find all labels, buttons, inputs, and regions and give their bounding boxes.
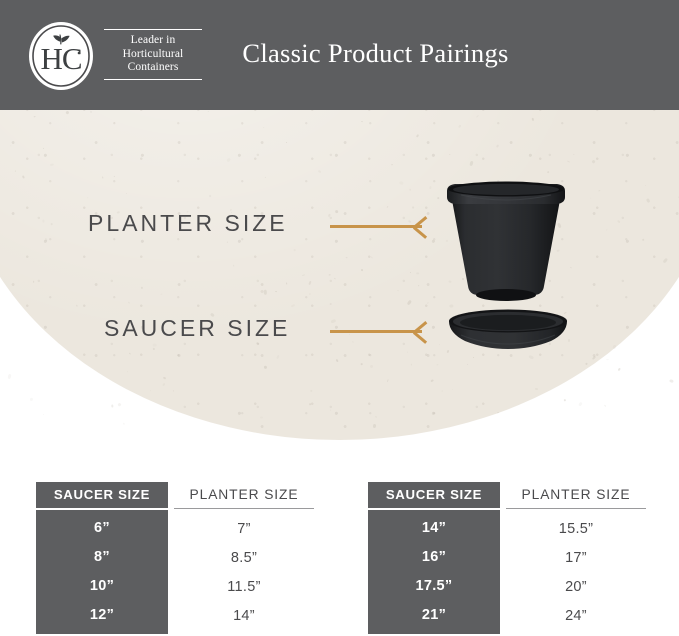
hero-section: PLANTER SIZE SAUCER SIZE [0,110,679,440]
texture-speck [373,424,377,428]
texture-speck [123,422,125,424]
hero-speckle-overlay [0,110,679,440]
texture-speck [33,281,34,283]
texture-speck [128,302,130,304]
texture-speck [330,409,331,410]
texture-speck [242,124,243,125]
texture-speck [387,379,389,382]
table-cell: 17.5” [368,572,500,601]
table-cell: 24” [506,602,646,631]
texture-speck [590,197,591,199]
texture-speck [308,293,311,295]
texture-speck [346,257,348,259]
texture-speck [410,364,412,366]
texture-speck [150,390,151,391]
texture-speck [535,388,538,390]
texture-speck [439,345,440,346]
texture-speck [335,358,338,362]
texture-speck [335,210,339,214]
saucer-dish-image [447,309,569,353]
table-cell: 14” [174,602,314,631]
texture-speck [303,274,306,276]
arrow-right-icon-saucer [330,321,430,341]
texture-speck [532,118,534,121]
texture-speck [263,127,265,129]
texture-speck [429,186,431,189]
texture-speck [232,265,234,267]
texture-speck [645,185,646,186]
planter-size-column: PLANTER SIZE 7” 8.5” 11.5” 14” [174,482,314,635]
texture-speck [33,116,35,118]
table-cell: 8.5” [174,544,314,573]
texture-speck [473,357,474,358]
table-cell: 17” [506,544,646,573]
texture-speck [208,111,209,112]
saucer-size-label: SAUCER SIZE [104,315,290,342]
texture-speck [111,405,114,408]
texture-speck [578,402,582,407]
texture-speck [50,222,53,224]
column-header-saucer-size: SAUCER SIZE [368,482,500,508]
planter-size-values: 15.5” 17” 20” 24” [506,511,646,635]
texture-speck [76,304,77,306]
texture-speck [669,379,674,383]
column-header-planter-size: PLANTER SIZE [174,482,314,509]
saucer-size-values: 14” 16” 17.5” 21” [368,510,500,634]
texture-speck [387,205,389,207]
texture-speck [318,170,321,173]
texture-speck [612,345,616,349]
texture-speck [22,175,25,178]
texture-speck [361,121,363,123]
column-header-saucer-size: SAUCER SIZE [36,482,168,508]
texture-speck [646,198,650,203]
arrow-shaft [330,330,422,333]
texture-speck [10,145,11,146]
texture-speck [547,171,549,173]
texture-speck [369,364,373,368]
table-cell: 7” [174,515,314,544]
arrow-shaft [330,225,422,228]
texture-speck [264,365,267,369]
texture-speck [361,268,363,271]
arrow-head [414,322,428,340]
texture-speck [412,206,414,209]
page-title: Classic Product Pairings [0,38,679,69]
texture-speck [126,192,127,193]
texture-speck [286,141,287,142]
planter-size-column: PLANTER SIZE 15.5” 17” 20” 24” [506,482,646,635]
texture-speck [172,389,173,391]
texture-speck [163,377,166,380]
header-bar: HC Leader in Horticultural Containers Cl… [0,0,679,110]
texture-speck [226,157,231,162]
table-cell: 14” [368,514,500,543]
texture-speck [573,154,574,156]
texture-speck [617,220,620,223]
texture-speck [427,301,429,303]
texture-speck [114,122,116,124]
texture-speck [117,403,121,407]
table-cell: 12” [36,601,168,630]
texture-speck [351,341,354,343]
texture-speck [334,278,336,279]
texture-speck [265,177,266,178]
saucer-size-column: SAUCER SIZE 14” 16” 17.5” 21” [368,482,500,634]
texture-speck [264,290,267,295]
texture-speck [308,281,312,285]
planter-pot-image [443,178,569,302]
texture-speck [449,304,453,307]
texture-speck [417,272,420,274]
texture-speck [375,415,377,417]
texture-speck [606,229,608,231]
saucer-size-values: 6” 8” 10” 12” [36,510,168,634]
texture-speck [87,196,89,198]
texture-speck [371,256,373,258]
texture-speck [330,303,332,305]
texture-speck [591,159,595,163]
texture-speck [599,190,601,191]
texture-speck [452,389,453,390]
table-cell: 21” [368,601,500,630]
texture-speck [467,364,469,366]
texture-speck [431,379,434,382]
column-header-planter-size: PLANTER SIZE [506,482,646,509]
texture-speck [410,272,411,273]
texture-speck [275,291,277,292]
table-cell: 20” [506,573,646,602]
texture-speck [152,343,156,346]
texture-speck [437,364,439,366]
texture-speck [43,148,44,149]
texture-speck [663,258,668,263]
texture-speck [470,161,475,166]
table-cell: 8” [36,543,168,572]
texture-speck [391,164,393,165]
texture-speck [153,347,156,350]
arrow-head [414,217,428,235]
texture-speck [291,304,295,308]
texture-speck [129,352,131,354]
texture-speck [309,403,312,405]
texture-speck [15,171,16,172]
texture-speck [618,367,621,370]
texture-speck [570,267,572,268]
size-table-left: SAUCER SIZE 6” 8” 10” 12” PLANTER SIZE 7… [36,482,314,634]
texture-speck [564,398,567,401]
texture-speck [437,197,440,199]
texture-speck [43,414,45,416]
texture-speck [528,355,533,360]
texture-speck [90,111,93,114]
tagline-rule-bottom [104,79,202,80]
texture-speck [44,238,47,242]
texture-speck [294,249,296,251]
texture-speck [586,362,588,364]
texture-speck [329,275,331,277]
texture-speck [102,177,104,179]
texture-speck [30,398,33,401]
texture-speck [642,238,644,241]
texture-speck [286,283,288,285]
table-cell: 11.5” [174,573,314,602]
size-table-right: SAUCER SIZE 14” 16” 17.5” 21” PLANTER SI… [368,482,646,634]
table-cell: 6” [36,514,168,543]
texture-speck [477,114,480,117]
texture-speck [399,181,403,185]
planter-size-label: PLANTER SIZE [88,210,288,237]
texture-speck [208,195,211,198]
texture-speck [407,352,408,354]
texture-speck [163,383,166,386]
arrow-right-icon-planter [330,216,430,236]
texture-speck [276,354,279,358]
texture-speck [42,220,45,223]
planter-size-values: 7” 8.5” 11.5” 14” [174,511,314,635]
texture-speck [397,289,399,291]
texture-speck [114,176,115,177]
texture-speck [496,144,499,148]
texture-speck [51,164,55,167]
texture-speck [442,390,443,391]
texture-speck [407,300,412,305]
table-cell: 15.5” [506,515,646,544]
texture-speck [161,294,163,295]
table-cell: 16” [368,543,500,572]
texture-speck [361,363,363,365]
saucer-size-column: SAUCER SIZE 6” 8” 10” 12” [36,482,168,634]
texture-speck [409,188,410,190]
texture-speck [227,242,228,243]
texture-speck [604,405,606,407]
texture-speck [126,371,127,372]
texture-speck [310,390,312,393]
texture-speck [449,153,451,155]
texture-speck [458,125,462,129]
texture-speck [141,287,144,290]
texture-speck [606,358,609,359]
texture-speck [66,111,70,115]
texture-speck [416,135,419,139]
texture-speck [260,416,263,418]
table-cell: 10” [36,572,168,601]
texture-speck [592,355,596,359]
texture-speck [418,285,420,287]
texture-speck [566,161,569,163]
texture-speck [7,374,11,380]
